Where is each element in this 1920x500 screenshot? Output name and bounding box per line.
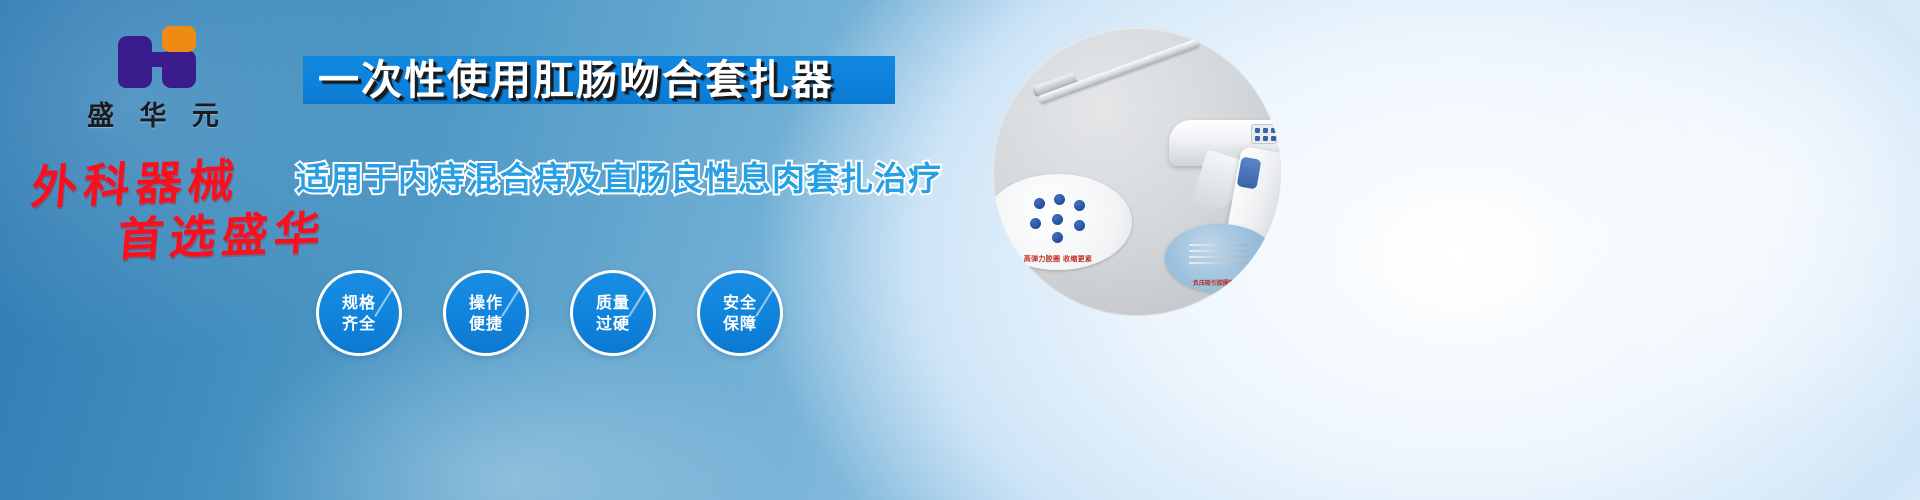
band-dot-6 [1074, 220, 1085, 231]
band-dot-2 [1054, 194, 1065, 205]
band-dot-5 [1052, 214, 1063, 225]
product-inset-needles: 负压吸引胶圈套扎器 [1165, 224, 1275, 292]
badge-line-1: 操作 [469, 292, 503, 313]
device-control-panel [1251, 124, 1277, 144]
subtitle: 适用于内痔混合痔及直肠良性息肉套扎治疗 [296, 156, 936, 202]
badge-line-2: 过硬 [596, 313, 630, 334]
panel-led-4 [1255, 136, 1260, 141]
background-glow-right [1520, 0, 1920, 440]
needle-4 [1189, 262, 1249, 264]
inset-caption: 负压吸引胶圈套扎器 [1165, 278, 1275, 287]
shenghuayuan-logo-mark-icon [118, 26, 196, 88]
product-inset-cartridge [1182, 296, 1281, 316]
band-dot-1 [1034, 198, 1045, 209]
feature-badge-safety[interactable]: 安全 保障 [697, 270, 783, 356]
badge-line-2: 保障 [723, 313, 757, 334]
badge-line-2: 便捷 [469, 313, 503, 334]
logo-shape-2 [162, 50, 196, 88]
product-inset-rubber-bands: 高弹力胶圈 收缩更紧 [993, 174, 1132, 270]
logo-shape-accent [162, 26, 196, 52]
panel-led-3 [1271, 128, 1276, 133]
device-shaft [1037, 38, 1200, 105]
badge-line-1: 规格 [342, 292, 376, 313]
panel-led-2 [1263, 128, 1268, 133]
brand-logo[interactable]: 盛 华 元 [62, 26, 252, 136]
page-title: 一次性使用肛肠吻合套扎器 [318, 52, 918, 108]
panel-led-6 [1271, 136, 1276, 141]
logo-shape-3 [118, 70, 148, 88]
band-dot-3 [1074, 200, 1085, 211]
badge-line-1: 安全 [723, 292, 757, 313]
feature-badge-specs[interactable]: 规格 齐全 [316, 270, 402, 356]
needle-3 [1189, 256, 1249, 258]
feature-badge-quality[interactable]: 质量 过硬 [570, 270, 656, 356]
needle-2 [1189, 250, 1249, 252]
badge-line-2: 齐全 [342, 313, 376, 334]
panel-led-1 [1255, 128, 1260, 133]
product-photo-circle[interactable]: 高弹力胶圈 收缩更紧 负压吸引胶圈套扎器 [993, 28, 1281, 316]
band-dot-4 [1030, 218, 1041, 229]
needle-1 [1189, 244, 1249, 246]
inset-caption: 高弹力胶圈 收缩更紧 [993, 254, 1132, 264]
panel-led-5 [1263, 136, 1268, 141]
feature-badge-list: 规格 齐全 操作 便捷 质量 过硬 安全 保障 [316, 270, 876, 366]
band-dot-7 [1052, 232, 1063, 243]
brand-name: 盛 华 元 [62, 94, 252, 133]
badge-line-1: 质量 [596, 292, 630, 313]
feature-badge-operation[interactable]: 操作 便捷 [443, 270, 529, 356]
